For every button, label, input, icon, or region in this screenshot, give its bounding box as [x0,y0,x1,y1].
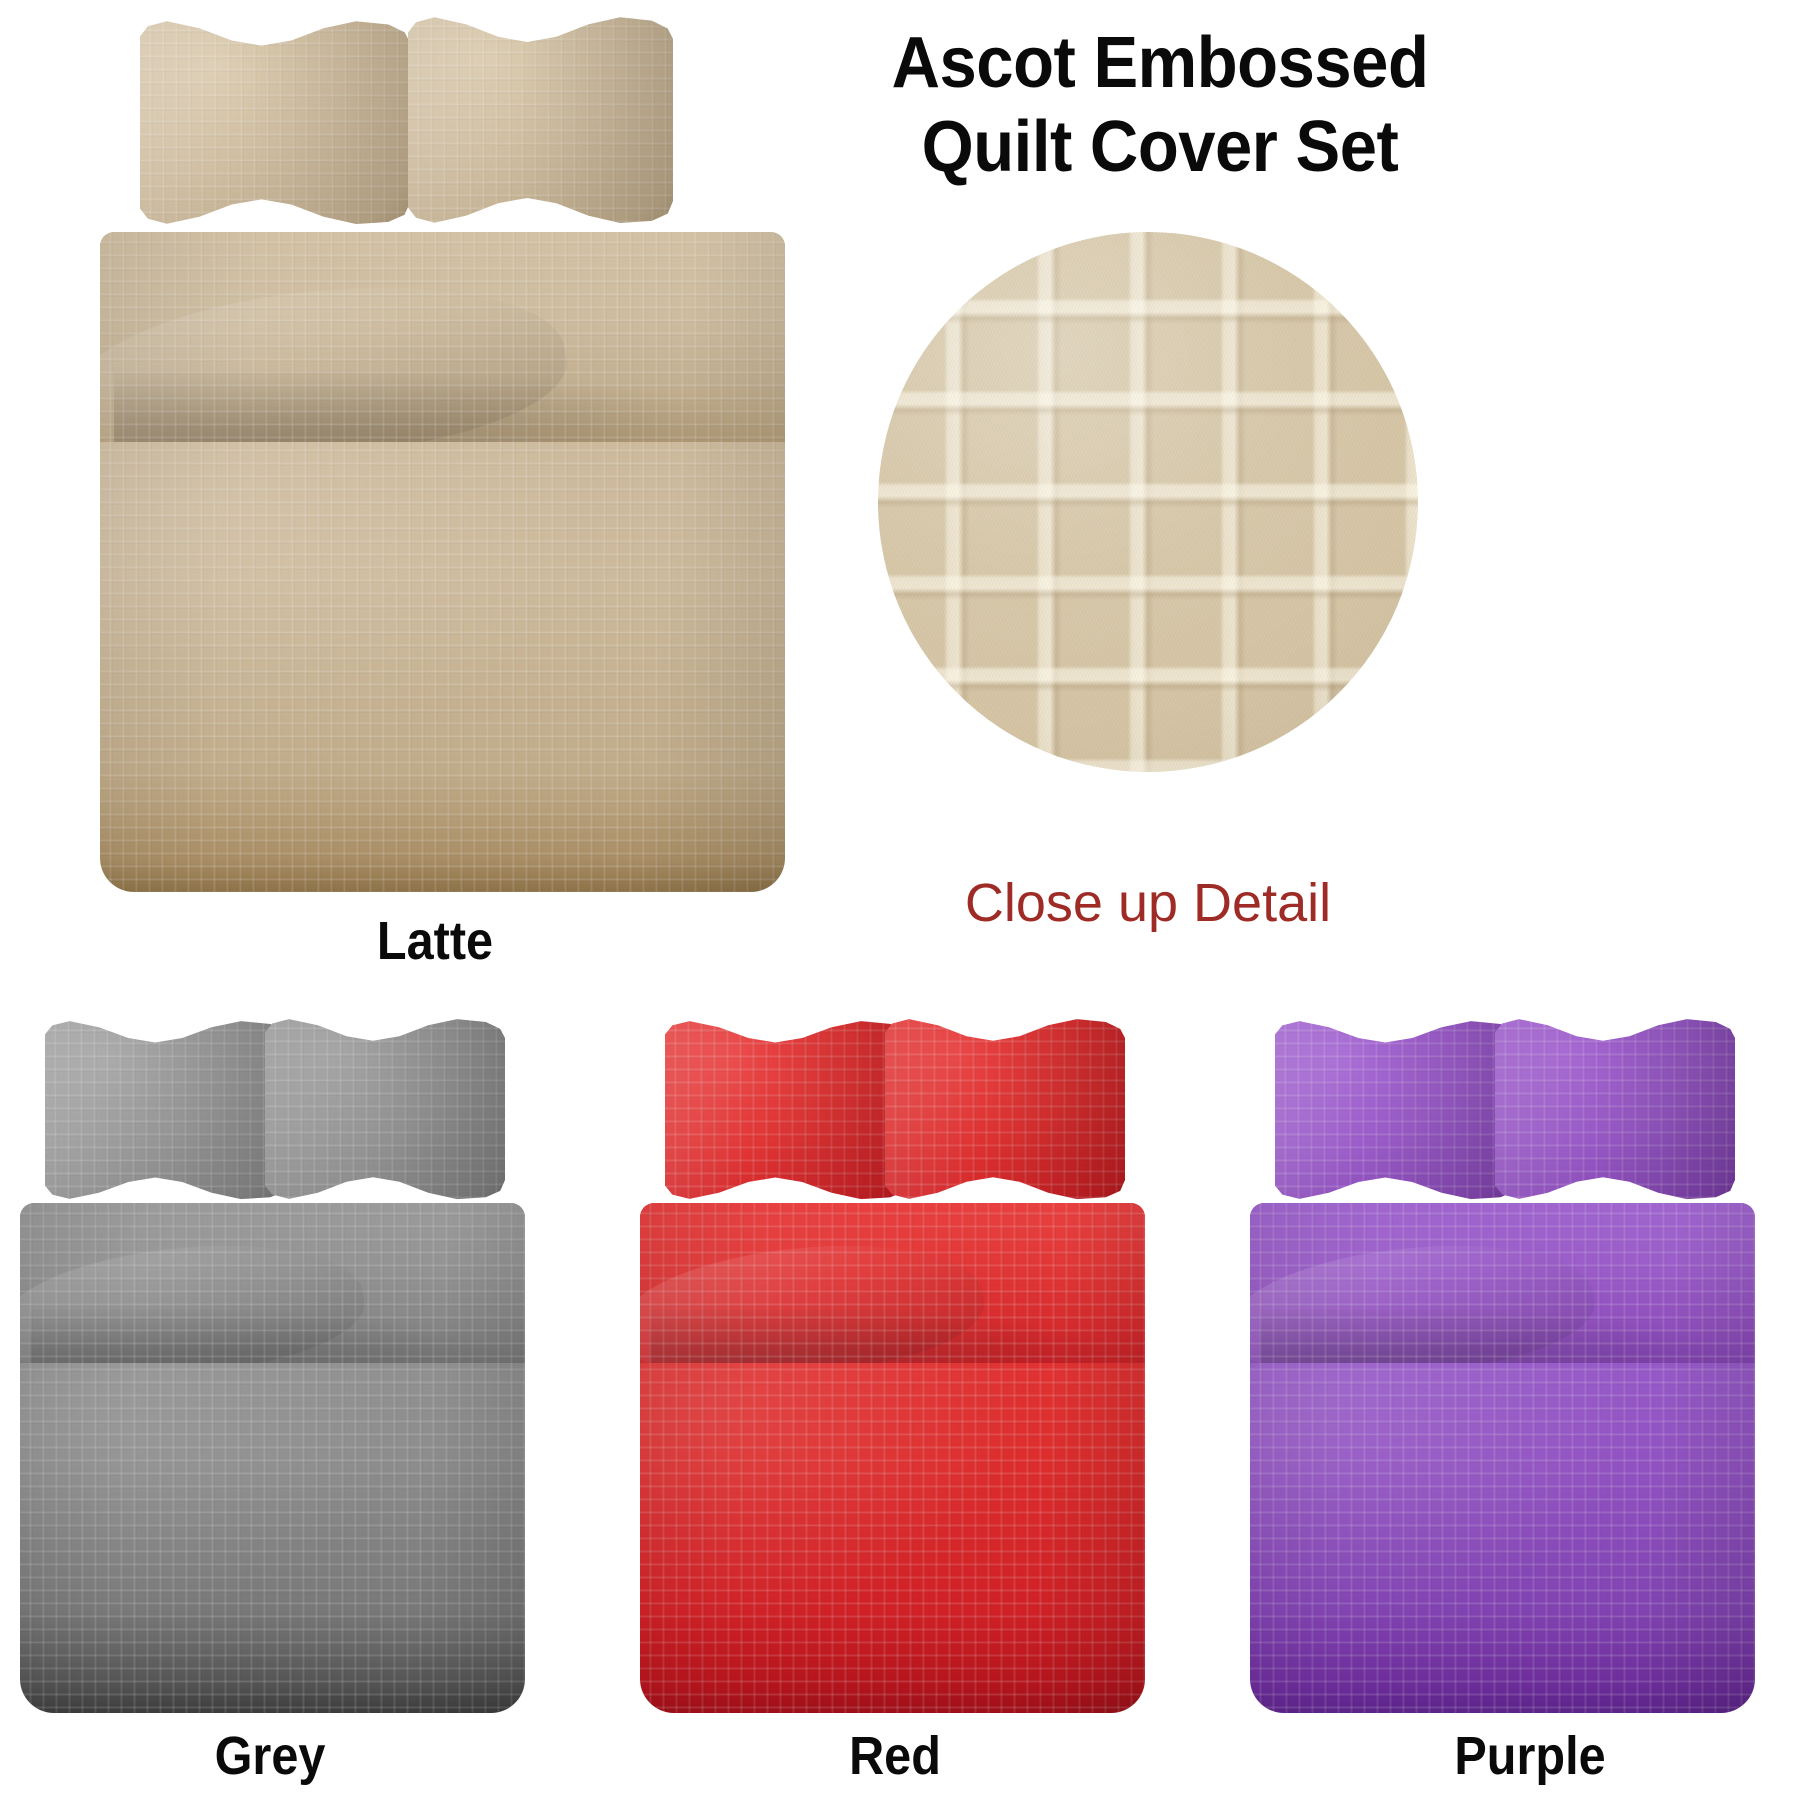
quilt-fold-crease [114,371,772,442]
pillow-red-left [665,1020,910,1200]
quilt-body [1250,1203,1755,1713]
bedset-red: Red [640,1010,1200,1800]
pillow-shading [45,1020,290,1200]
pillow-weave-texture [265,1018,505,1200]
quilt-folded-top [100,232,785,442]
closeup-detail-swatch [878,232,1418,772]
product-title: Ascot Embossed Quilt Cover Set [830,22,1490,189]
pillow-weave-texture [140,20,410,225]
pillow-grey-right [265,1018,505,1200]
color-label-latte: Latte [273,910,597,972]
pillow-latte-right [408,16,673,224]
pillow-body [140,20,410,225]
pillow-body [885,1018,1125,1200]
product-title-line-1: Ascot Embossed [853,22,1467,106]
pillow-body [665,1020,910,1200]
quilt-fold-crease [30,1309,515,1363]
color-label-grey: Grey [126,1725,414,1787]
quilt-red [640,1203,1145,1713]
bedset-grey: Grey [20,1010,580,1800]
pillow-body [45,1020,290,1200]
quilt-body [20,1203,525,1713]
quilt-grey [20,1203,525,1713]
pillow-grey-left [45,1020,290,1200]
closeup-fabric-circle [878,232,1418,772]
pillow-shading [665,1020,910,1200]
pillow-latte-left [140,20,410,225]
quilt-fold-crease [1260,1309,1745,1363]
pillow-weave-texture [408,16,673,224]
pillow-weave-texture [1495,1018,1735,1200]
pillow-shading [1495,1018,1735,1200]
bedset-latte: Latte [0,0,760,920]
pillow-shading [408,16,673,224]
pillow-shading [140,20,410,225]
pillow-body [1495,1018,1735,1200]
product-title-line-2: Quilt Cover Set [853,106,1467,190]
pillow-shading [265,1018,505,1200]
quilt-body [640,1203,1145,1713]
pillow-purple-right [1495,1018,1735,1200]
quilt-body [100,232,785,892]
pillow-purple-left [1275,1020,1520,1200]
quilt-latte [100,232,785,892]
color-label-purple: Purple [1386,1725,1674,1787]
pillow-body [408,16,673,224]
product-image-canvas: Ascot Embossed Quilt Cover Set Close up … [0,0,1800,1800]
quilt-folded-top [1250,1203,1755,1363]
pillow-body [1275,1020,1520,1200]
closeup-fabric-texture [878,232,1418,772]
quilt-folded-top [640,1203,1145,1363]
pillow-shading [885,1018,1125,1200]
quilt-folded-top [20,1203,525,1363]
pillow-body [265,1018,505,1200]
color-label-red: Red [751,1725,1039,1787]
pillow-weave-texture [45,1020,290,1200]
pillow-red-right [885,1018,1125,1200]
pillow-weave-texture [1275,1020,1520,1200]
closeup-detail-caption: Close up Detail [828,872,1468,934]
pillow-weave-texture [885,1018,1125,1200]
pillow-shading [1275,1020,1520,1200]
quilt-fold-crease [650,1309,1135,1363]
bedset-purple: Purple [1250,1010,1800,1800]
quilt-purple [1250,1203,1755,1713]
pillow-weave-texture [665,1020,910,1200]
